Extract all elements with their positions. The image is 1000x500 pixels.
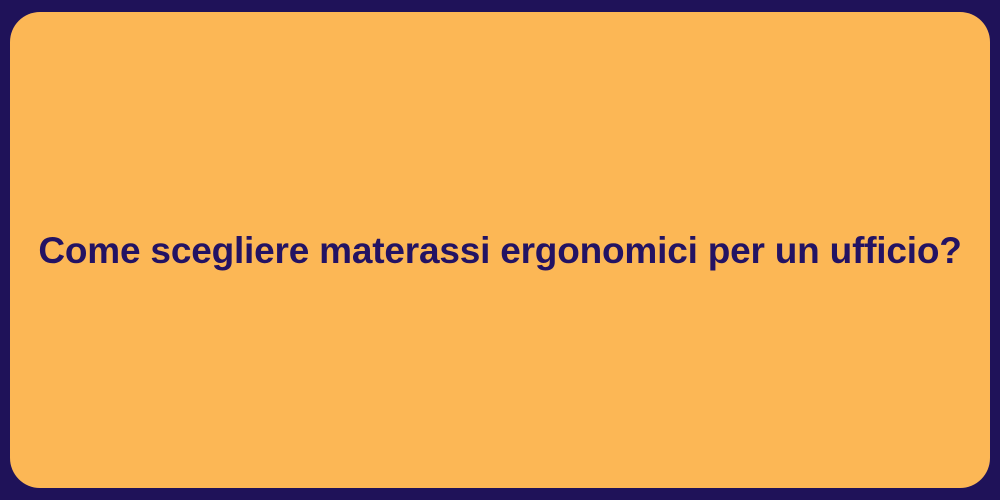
card-frame: Come scegliere materassi ergonomici per … xyxy=(0,0,1000,500)
card-panel: Come scegliere materassi ergonomici per … xyxy=(10,12,990,488)
card-heading: Come scegliere materassi ergonomici per … xyxy=(10,228,990,274)
